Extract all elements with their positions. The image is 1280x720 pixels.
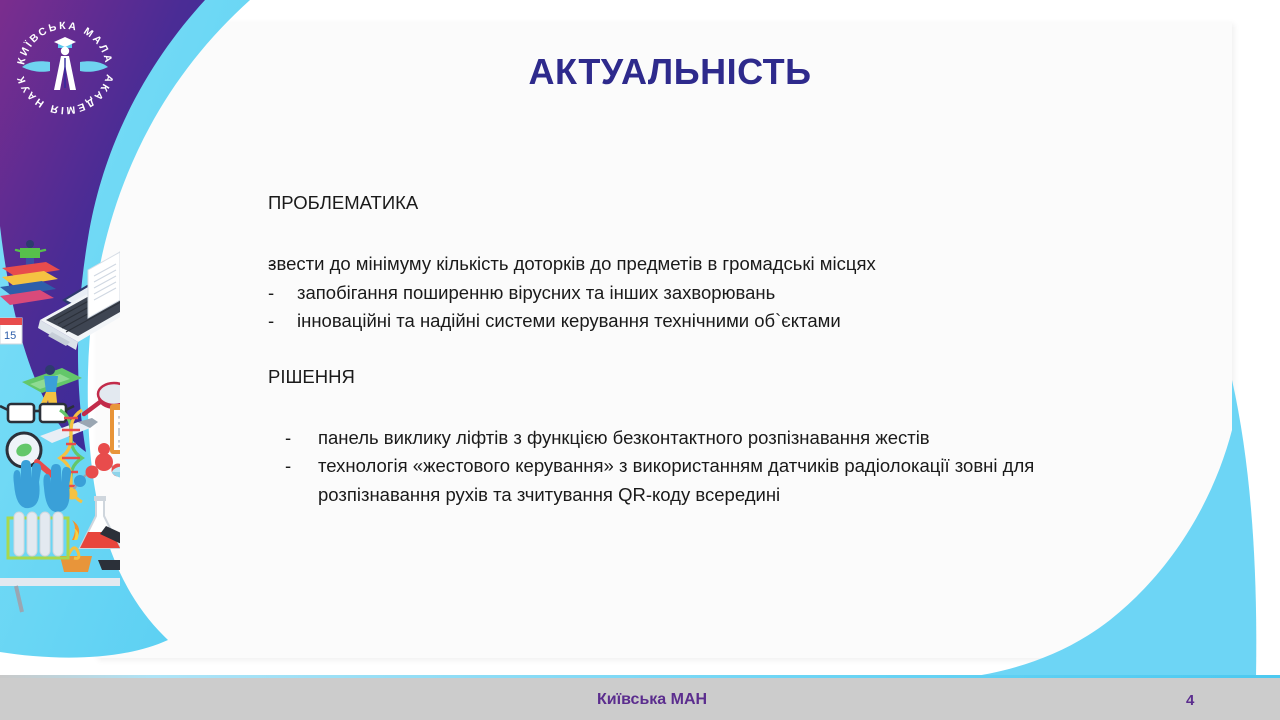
solution-list: - панель виклику ліфтів з функцією безко… — [285, 424, 1108, 510]
list-item-label: запобігання поширенню вірусних та інших … — [297, 279, 1108, 308]
stacked-books-icon — [0, 262, 60, 305]
bullet-marker-icon: - — [268, 279, 297, 308]
list-item-label: звести до мінімуму кількість доторків до… — [297, 250, 1108, 279]
page-title: АКТУАЛЬНІСТЬ — [300, 51, 1040, 93]
bullet-marker-icon: - — [268, 307, 297, 336]
list-item: - запобігання поширенню вірусних та інши… — [268, 279, 1108, 308]
person-reading-icon — [38, 365, 58, 412]
list-item-label: панель виклику ліфтів з функцією безконт… — [318, 424, 1108, 453]
bullet-marker-icon: - — [285, 452, 318, 481]
dna-helix-icon — [60, 410, 82, 502]
footer-accent-line — [0, 675, 1280, 678]
cyan-swoosh-right-edge — [1232, 380, 1256, 678]
list-item: - панель виклику ліфтів з функцією безко… — [285, 424, 1108, 453]
gloves-icon — [13, 460, 71, 512]
organization-logo: КИЇВСЬКА МАЛА АКАДЕМІЯ НАУК — [6, 4, 124, 122]
usb-drive-icon — [40, 418, 98, 443]
person-figure-icon — [16, 240, 45, 270]
solution-section-heading: РІШЕННЯ — [268, 364, 1108, 390]
list-item-label: інноваційні та надійні системи керування… — [297, 307, 1108, 336]
test-tubes-icon — [8, 512, 68, 558]
eyeglasses-icon — [0, 404, 74, 422]
banknote-icon — [22, 368, 82, 393]
cell-magnifier-icon — [7, 433, 58, 480]
burner-icon — [60, 520, 92, 572]
slide-body: ПРОБЛЕМАТИКА - звести до мінімуму кількі… — [268, 190, 1108, 509]
presentation-slide: КИЇВСЬКА МАЛА АКАДЕМІЯ НАУК — [0, 0, 1280, 720]
problem-list: - звести до мінімуму кількість доторків … — [268, 250, 1108, 336]
list-item: - звести до мінімуму кількість доторків … — [268, 250, 1108, 279]
bullet-marker-icon: - — [285, 424, 318, 453]
footer-organization-label: Київська МАН — [597, 691, 707, 709]
logo-mark: КИЇВСЬКА МАЛА АКАДЕМІЯ НАУК — [6, 4, 124, 122]
problem-section-heading: ПРОБЛЕМАТИКА — [268, 190, 1108, 216]
calendar-icon: 15 — [0, 318, 22, 344]
slide-page-number: 4 — [1186, 692, 1194, 709]
list-item: - технологія «жестового керування» з вик… — [285, 452, 1108, 509]
list-item: - інноваційні та надійні системи керуван… — [268, 307, 1108, 336]
list-item-label: технологія «жестового керування» з викор… — [318, 452, 1108, 509]
svg-text:15: 15 — [4, 330, 16, 342]
